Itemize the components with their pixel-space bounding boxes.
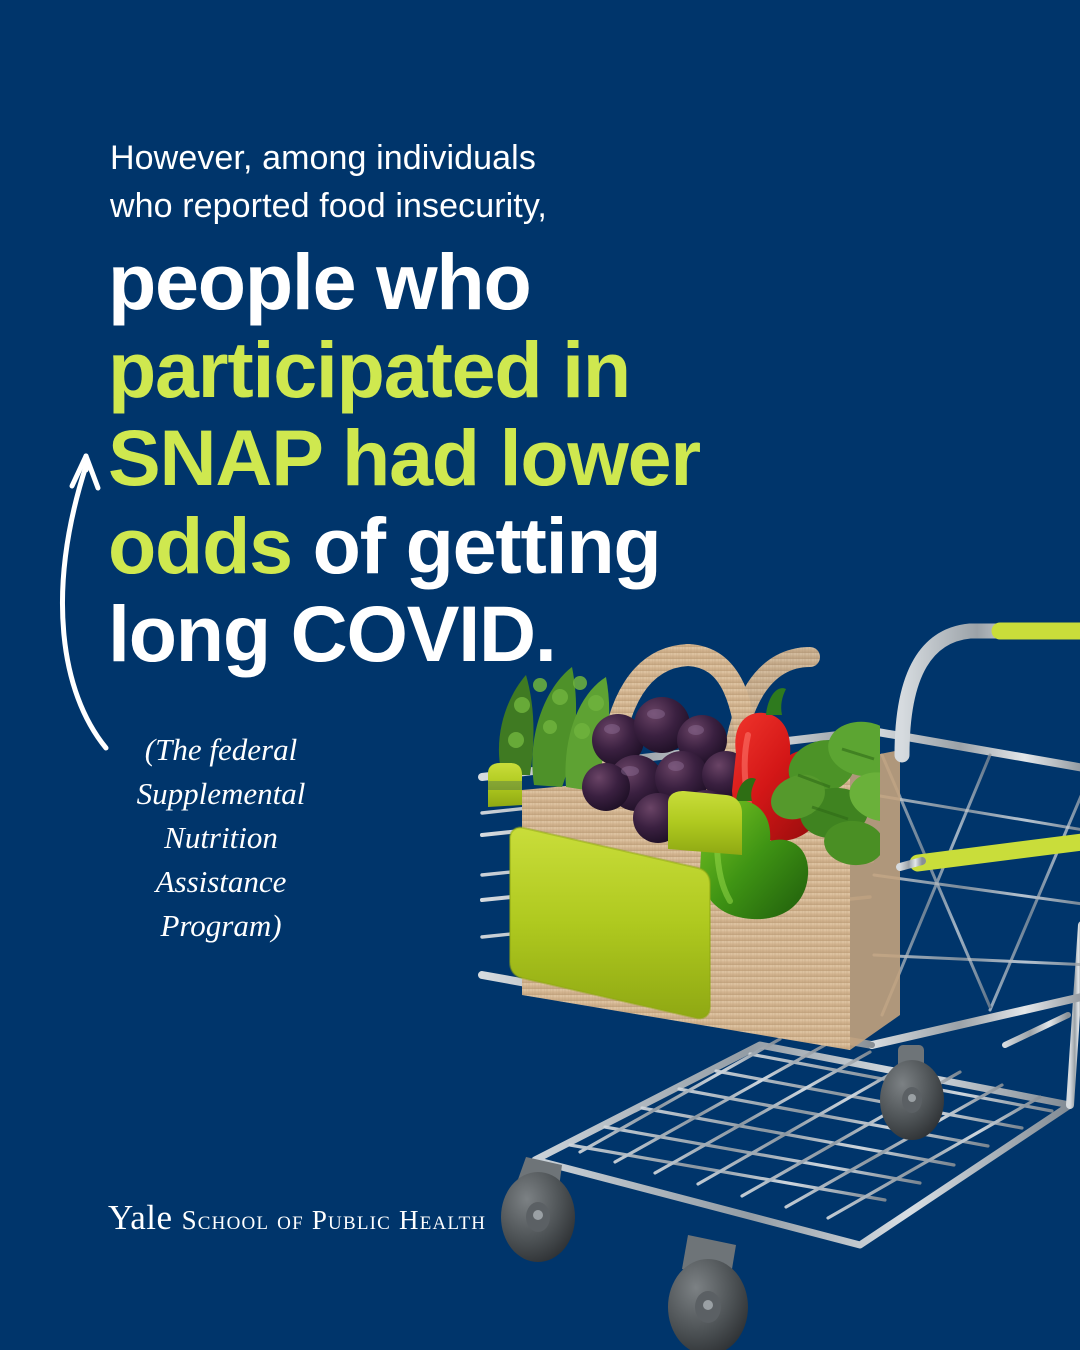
headline-seg-participated-in: participated in xyxy=(108,325,630,414)
cart-wheel-rear xyxy=(880,1045,944,1140)
caption-line-3: Nutrition xyxy=(112,816,330,860)
intro-line-2: who reported food insecurity, xyxy=(110,182,750,230)
headline-seg-people-who: people who xyxy=(108,237,531,326)
headline-line-4: odds of getting xyxy=(108,502,808,590)
yale-wordmark: Yale xyxy=(108,1198,173,1238)
headline: people who participated in SNAP had lowe… xyxy=(108,238,808,678)
headline-seg-of-getting: of getting xyxy=(292,501,661,590)
caption-line-1: (The federal xyxy=(112,728,330,772)
headline-seg-odds: odds xyxy=(108,501,292,590)
headline-line-2: participated in xyxy=(108,326,808,414)
headline-line-5: long COVID. xyxy=(108,590,808,678)
headline-line-3: SNAP had lower xyxy=(108,414,808,502)
cart-wheel-front-right xyxy=(668,1235,748,1350)
headline-seg-snap-had-lower: SNAP had lower xyxy=(108,413,700,502)
caption-line-4: Assistance xyxy=(112,860,330,904)
cart-green-clip xyxy=(488,763,522,807)
cart-handle xyxy=(902,631,1080,755)
logo-unit-name: School of Public Health xyxy=(182,1205,487,1236)
intro-text: However, among individuals who reported … xyxy=(110,134,750,230)
yale-school-of-public-health-logo: Yale School of Public Health xyxy=(108,1198,486,1238)
headline-line-1: people who xyxy=(108,238,808,326)
poster-canvas: However, among individuals who reported … xyxy=(0,0,1080,1350)
snap-acronym-caption: (The federal Supplemental Nutrition Assi… xyxy=(112,728,330,948)
cart-green-clip-center xyxy=(668,791,742,855)
caption-line-2: Supplemental xyxy=(112,772,330,816)
intro-line-1: However, among individuals xyxy=(110,134,750,182)
cart-wheel-front-left xyxy=(501,1157,575,1262)
caption-line-5: Program) xyxy=(112,904,330,948)
headline-seg-long-covid: long COVID. xyxy=(108,589,556,678)
